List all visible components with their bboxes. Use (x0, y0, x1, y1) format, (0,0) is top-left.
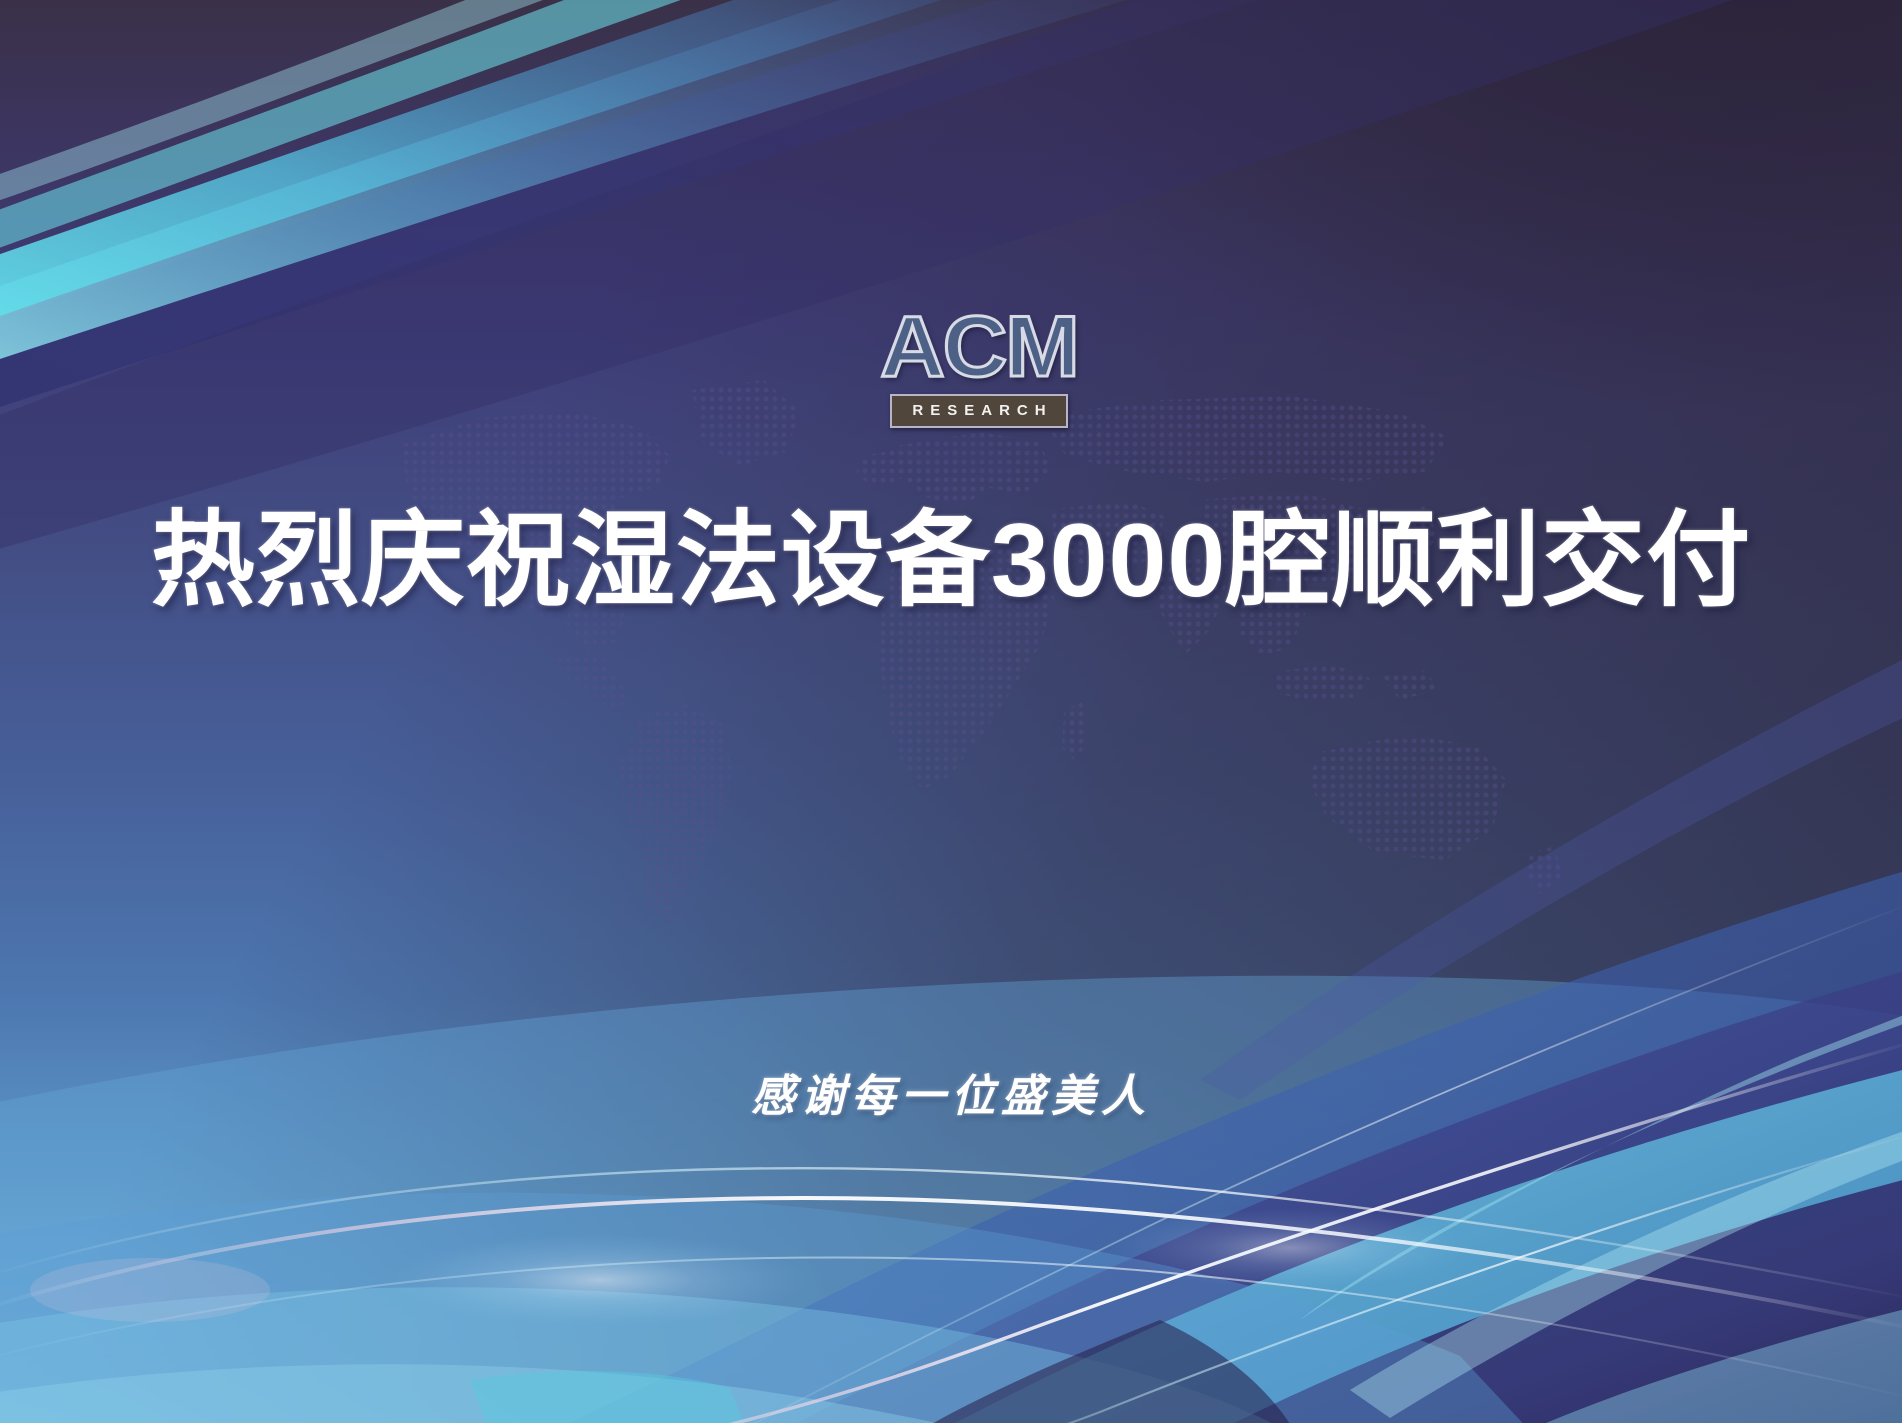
world-map-dot-pattern (340, 360, 1580, 970)
slide-headline: 热烈庆祝湿法设备3000腔顺利交付 (0, 498, 1902, 624)
light-streaks (0, 900, 1902, 1423)
decorative-ribbons (0, 0, 1902, 1423)
background-gradient (0, 0, 1902, 1423)
acm-research-logo: ACM RESEARCH (884, 300, 1074, 432)
ribbon-group-top-left (0, 0, 1902, 560)
research-tagline-bar: RESEARCH (890, 394, 1068, 428)
research-tagline-text: RESEARCH (892, 396, 1066, 426)
background-corner-shading (0, 0, 1902, 1423)
acm-wordmark: ACM (880, 300, 1078, 394)
presentation-slide: ACM RESEARCH 热烈庆祝湿法设备3000腔顺利交付 感谢每一位盛美人 (0, 0, 1902, 1423)
slide-subline: 感谢每一位盛美人 (0, 1068, 1902, 1126)
ribbon-group-bottom (0, 860, 1902, 1423)
ribbon-group-right (1200, 640, 1902, 1418)
